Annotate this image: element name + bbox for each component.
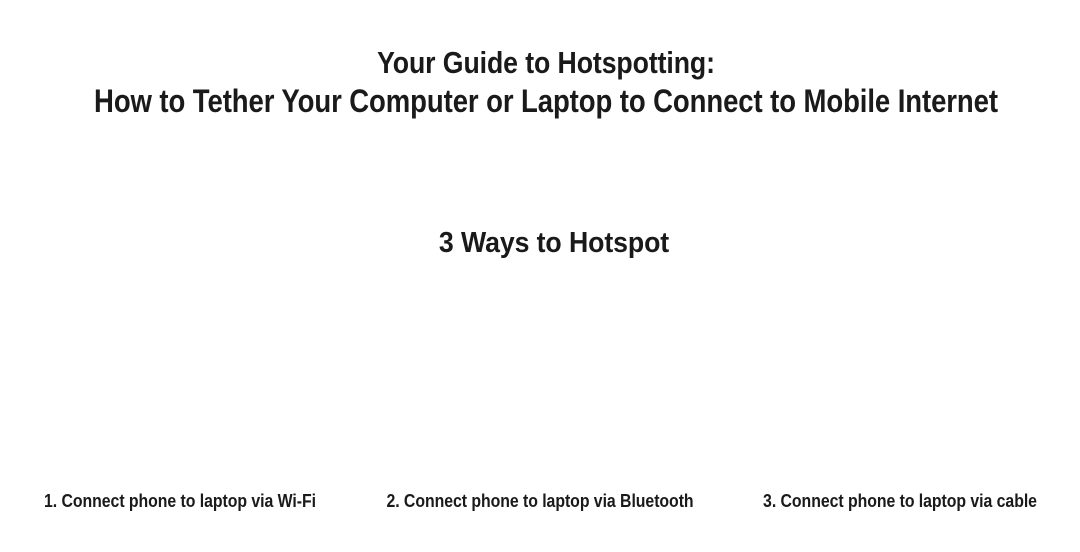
method-figure-wifi (0, 285, 360, 480)
method-figure-band (0, 285, 1080, 480)
method-caption-wifi: 1. Connect phone to laptop via Wi-Fi (22, 489, 339, 513)
method-caption-bluetooth: 2. Connect phone to laptop via Bluetooth (382, 489, 699, 513)
page-title-line-1: Your Guide to Hotspotting: (76, 44, 1015, 82)
method-figure-bluetooth (360, 285, 720, 480)
method-caption-row: 1. Connect phone to laptop via Wi-Fi 2. … (0, 489, 1080, 513)
article-page: Your Guide to Hotspotting: How to Tether… (0, 0, 1080, 552)
page-title: Your Guide to Hotspotting: How to Tether… (0, 44, 1080, 120)
page-title-line-2: How to Tether Your Computer or Laptop to… (76, 82, 1015, 120)
method-figure-cable (720, 285, 1080, 480)
section-heading: 3 Ways to Hotspot (376, 223, 733, 263)
method-caption-cable: 3. Connect phone to laptop via cable (742, 489, 1059, 513)
